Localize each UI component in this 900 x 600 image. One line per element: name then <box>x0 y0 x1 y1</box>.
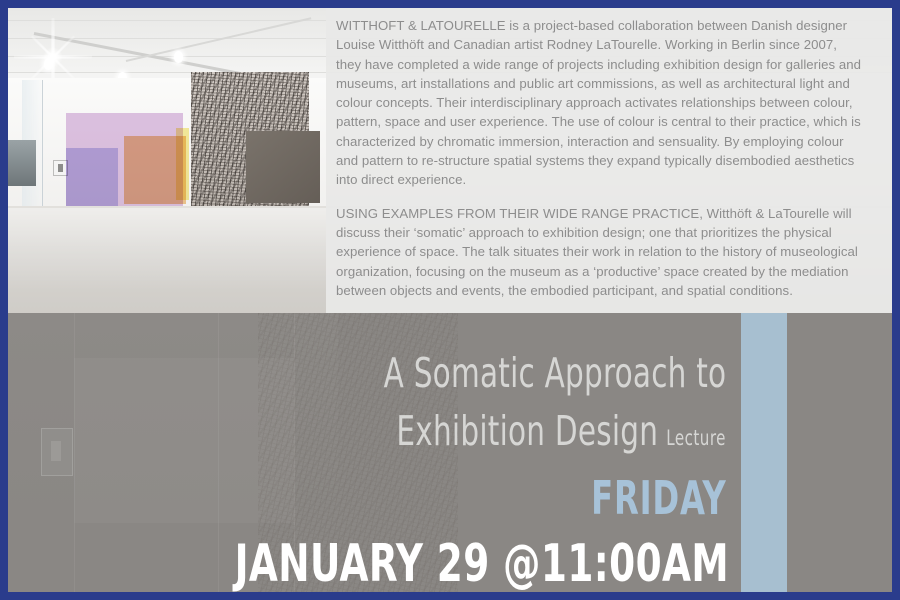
headline-band: A Somatic Approach to Exhibition DesignL… <box>8 313 892 592</box>
event-poster: WITTHOFT & LATOURELLE is a project-based… <box>0 0 900 600</box>
colour-plane-orange <box>124 136 186 204</box>
event-title-line-1: A Somatic Approach to <box>383 353 726 394</box>
event-date-time: JANUARY 29 @11:00AM <box>235 538 729 590</box>
event-type-label: Lecture <box>666 426 726 450</box>
wall-artwork-small <box>8 140 36 186</box>
spotlight-icon <box>174 51 183 63</box>
description-panel: WITTHOFT & LATOURELLE is a project-based… <box>326 8 892 313</box>
event-title-line-2-row: Exhibition DesignLecture <box>396 411 726 452</box>
event-title-line-2: Exhibition Design <box>396 407 658 455</box>
dark-panel-artwork <box>246 131 320 203</box>
description-paragraph-2: USING EXAMPLES FROM THEIR WIDE RANGE PRA… <box>336 204 864 300</box>
event-day: FRIDAY <box>591 475 726 521</box>
description-paragraph-1: WITTHOFT & LATOURELLE is a project-based… <box>336 16 864 190</box>
spotlight-icon <box>44 58 53 70</box>
